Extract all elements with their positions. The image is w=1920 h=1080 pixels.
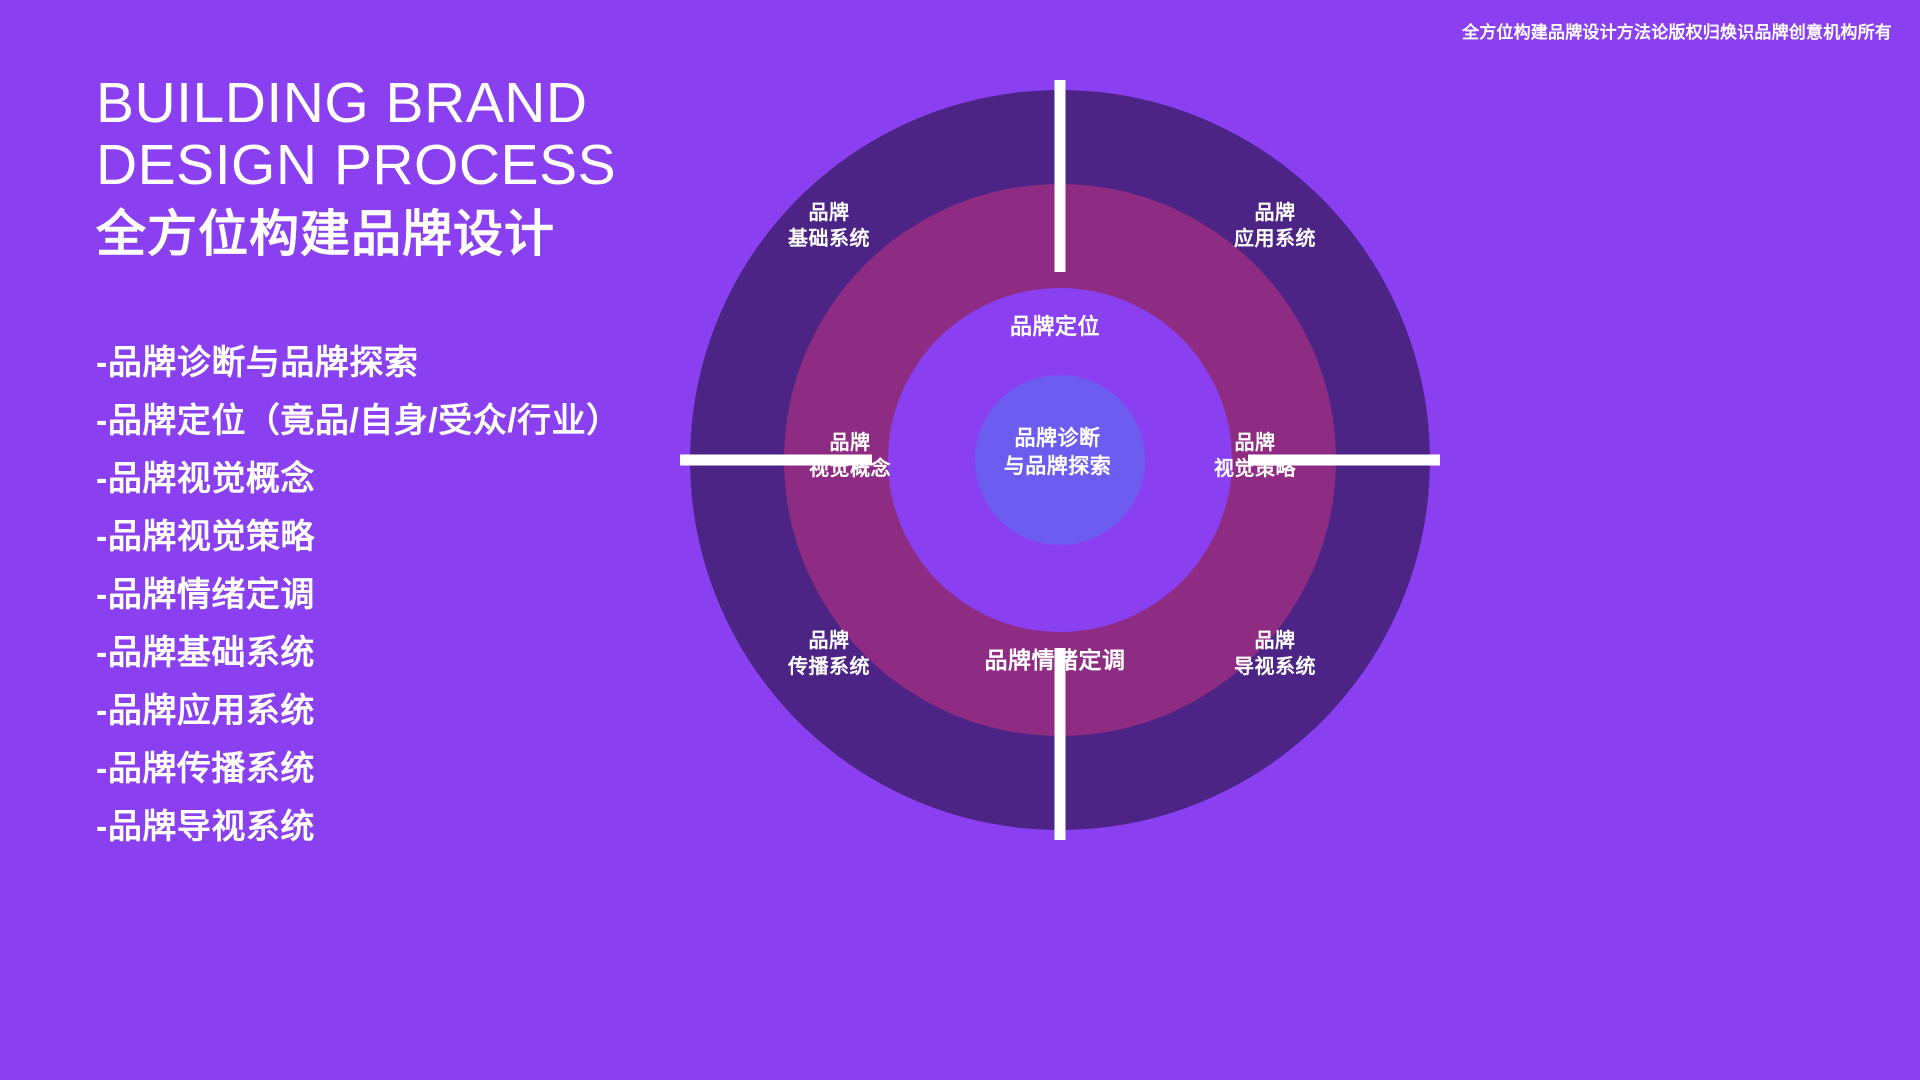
process-bullet-list: -品牌诊断与品牌探索 -品牌定位（竟品/自身/受众/行业） -品牌视觉概念 -品… <box>96 334 776 856</box>
outer-ring-label-bottom-left: 品牌 传播系统 <box>754 628 904 681</box>
middle-ring-label-right: 品牌 视觉策略 <box>1180 430 1330 483</box>
list-item: -品牌应用系统 <box>96 682 776 740</box>
outer-ring-label-top-left: 品牌 基础系统 <box>754 200 904 253</box>
page-title-english: BUILDING BRAND DESIGN PROCESS <box>96 72 776 196</box>
list-item: -品牌视觉概念 <box>96 450 776 508</box>
list-item: -品牌情绪定调 <box>96 566 776 624</box>
concentric-ring-diagram: 品牌 基础系统 品牌 应用系统 品牌 传播系统 品牌 导视系统 品牌 视觉概念 … <box>680 80 1440 840</box>
outer-ring-label-bottom-right: 品牌 导视系统 <box>1200 628 1350 681</box>
list-item: -品牌诊断与品牌探索 <box>96 334 776 392</box>
list-item: -品牌定位（竟品/自身/受众/行业） <box>96 392 776 450</box>
divider-top <box>1055 80 1066 272</box>
list-item: -品牌基础系统 <box>96 624 776 682</box>
list-item: -品牌视觉策略 <box>96 508 776 566</box>
copyright-notice: 全方位构建品牌设计方法论版权归焕识品牌创意机构所有 <box>1462 18 1892 43</box>
page-title-chinese: 全方位构建品牌设计 <box>96 204 776 264</box>
left-content-panel: BUILDING BRAND DESIGN PROCESS 全方位构建品牌设计 … <box>96 72 776 856</box>
middle-ring-label-left: 品牌 视觉概念 <box>775 430 925 483</box>
divider-bottom <box>1055 648 1066 840</box>
outer-ring-label-top-right: 品牌 应用系统 <box>1200 200 1350 253</box>
list-item: -品牌导视系统 <box>96 798 776 856</box>
middle-ring-label-bottom: 品牌情绪定调 <box>935 645 1175 675</box>
core-label: 品牌诊断 与品牌探索 <box>965 425 1150 480</box>
inner-ring-label-top: 品牌定位 <box>935 312 1175 341</box>
list-item: -品牌传播系统 <box>96 740 776 798</box>
